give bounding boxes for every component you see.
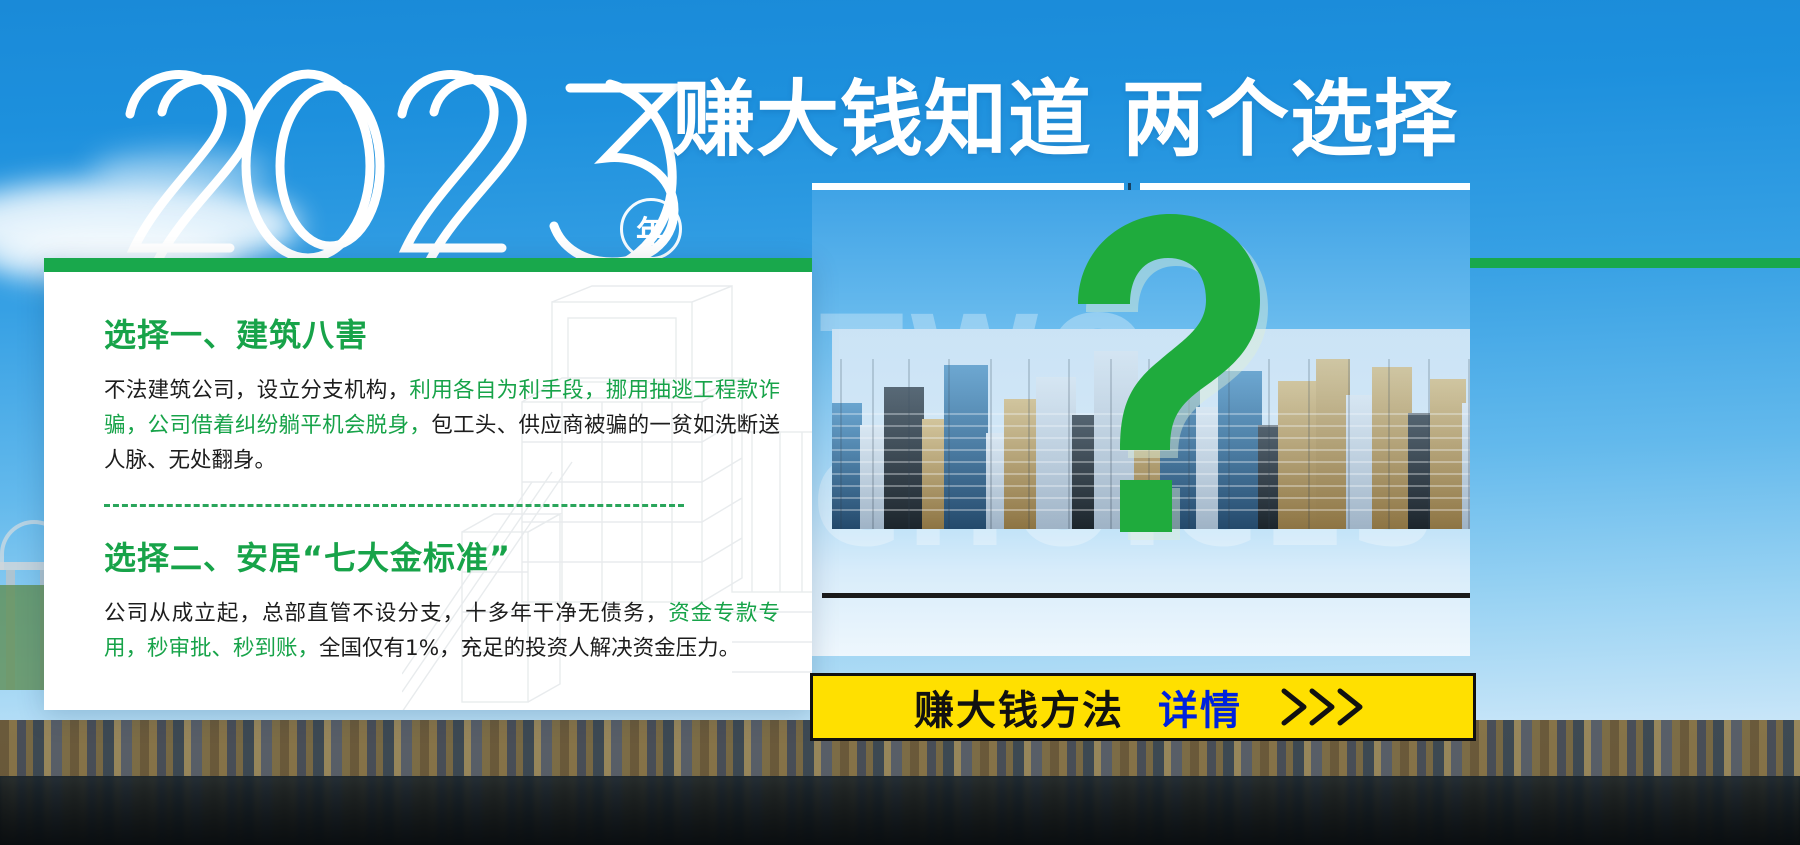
right-visual-panel: TWO CHOICES — [812, 190, 1470, 656]
chevron-right-icon — [1276, 685, 1372, 729]
section-body-1: 不法建筑公司，设立分支机构，利用各自为利手段，挪用抽逃工程款诈骗，公司借着纠纷躺… — [104, 374, 780, 478]
green-edge-accent — [1470, 258, 1800, 268]
section-divider — [104, 504, 684, 507]
section-title-2: 选择二、安居“七大金标准” — [104, 533, 788, 579]
page-title: 赚大钱知道 两个选择 — [672, 78, 1458, 161]
cta-main-label: 赚大钱方法 — [914, 678, 1124, 736]
headline-rule-right — [1140, 183, 1470, 190]
card-top-accent-bar — [44, 258, 812, 272]
question-mark-icon — [1044, 208, 1284, 553]
green-band-decoration — [0, 585, 44, 690]
banner-root: 年 赚大钱知道 两个选择 TWO CHOICES — [0, 0, 1800, 845]
year-suffix-badge: 年 — [620, 198, 682, 260]
section-body-2-part-1: 公司从成立起，总部直管不设分支，十多年干净无债务， — [104, 601, 668, 626]
section-body-1-part-1: 不法建筑公司，设立分支机构， — [104, 378, 409, 403]
cta-banner[interactable]: 赚大钱方法 详情 — [810, 673, 1476, 741]
content-card: 选择一、建筑八害 不法建筑公司，设立分支机构，利用各自为利手段，挪用抽逃工程款诈… — [44, 258, 812, 710]
section-title-1: 选择一、建筑八害 — [104, 310, 788, 356]
year-suffix-label: 年 — [620, 198, 682, 260]
headline-rule-left — [812, 183, 1124, 190]
section-body-2-part-3: 全国仅有1%，充足的投资人解决资金压力。 — [319, 636, 740, 661]
cta-detail-label[interactable]: 详情 — [1158, 678, 1242, 736]
section-body-2: 公司从成立起，总部直管不设分支，十多年干净无债务，资金专款专用，秒审批、秒到账，… — [104, 597, 780, 667]
